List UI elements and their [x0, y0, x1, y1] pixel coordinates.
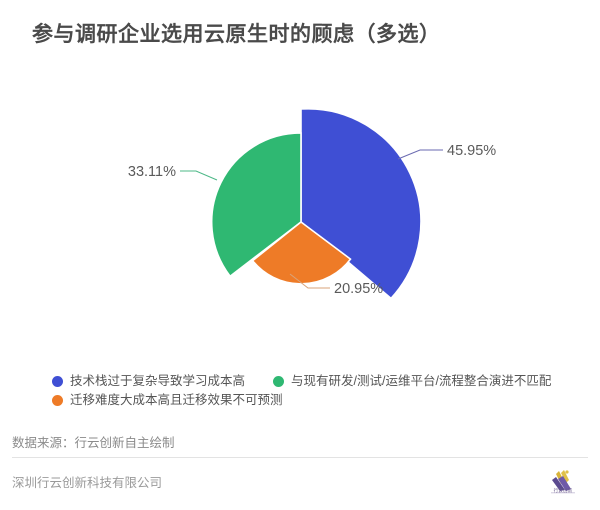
footer-divider: [12, 457, 588, 458]
slice-label-orange: 20.95%: [334, 281, 383, 297]
chart-legend: 技术栈过于复杂导致学习成本高 与现有研发/测试/运维平台/流程整合演进不匹配 迁…: [52, 372, 572, 410]
slice-label-blue: 45.95%: [447, 143, 496, 159]
legend-label-1: 与现有研发/测试/运维平台/流程整合演进不匹配: [291, 372, 551, 391]
legend-row-2: 迁移难度大成本高且迁移效果不可预测: [52, 391, 572, 410]
company-name-text: 深圳行云创新科技有限公司: [12, 472, 162, 491]
legend-item-2[interactable]: 迁移难度大成本高且迁移效果不可预测: [52, 391, 283, 410]
legend-item-0[interactable]: 技术栈过于复杂导致学习成本高: [52, 372, 245, 391]
leader-line-green: [180, 171, 217, 180]
legend-swatch-icon-2: [52, 395, 63, 406]
data-source-text: 数据来源：行云创新自主绘制: [12, 432, 175, 451]
pie-chart-svg: 45.95% 33.11% 20.95%: [0, 70, 600, 360]
pie-chart: 45.95% 33.11% 20.95%: [0, 70, 600, 360]
legend-swatch-icon-0: [52, 376, 63, 387]
legend-label-2: 迁移难度大成本高且迁移效果不可预测: [70, 391, 283, 410]
leader-line-blue: [398, 150, 443, 159]
page-title: 参与调研企业选用云原生时的顾虑（多选）: [32, 18, 441, 48]
legend-row-1: 技术栈过于复杂导致学习成本高 与现有研发/测试/运维平台/流程整合演进不匹配: [52, 372, 572, 391]
legend-label-0: 技术栈过于复杂导致学习成本高: [70, 372, 245, 391]
slice-label-green: 33.11%: [128, 164, 176, 180]
legend-item-1[interactable]: 与现有研发/测试/运维平台/流程整合演进不匹配: [273, 372, 551, 391]
brand-logo-caption: 行云创新: [545, 488, 581, 494]
legend-swatch-icon-1: [273, 376, 284, 387]
